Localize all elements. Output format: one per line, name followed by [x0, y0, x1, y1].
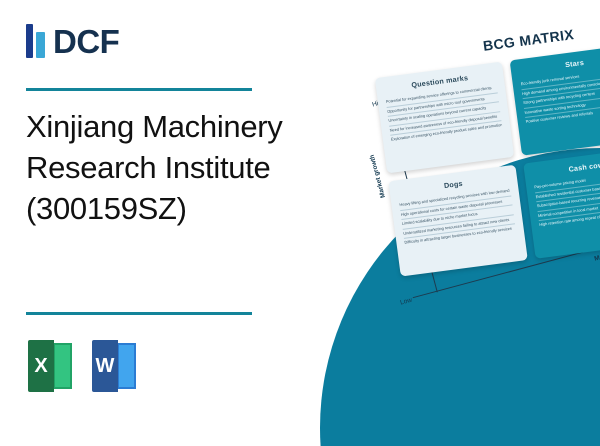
excel-file-icon-glyph: X [28, 340, 54, 392]
page-title: Xinjiang Machinery Research Institute (3… [26, 106, 326, 230]
quadrant-list-question-marks: Potential for expanding service offering… [385, 83, 502, 144]
bcg-matrix-graphic: BCG MATRIX High Low Market growth Market… [300, 0, 600, 446]
file-format-icons: X W [28, 340, 136, 392]
excel-file-icon[interactable]: X [28, 340, 72, 392]
quadrant-stars: Stars Eco-friendly junk removal services… [510, 44, 600, 156]
dcf-bars-logo-icon [26, 24, 45, 58]
page-root: DCF Xinjiang Machinery Research Institut… [0, 0, 600, 446]
quadrant-cash-cows: Cash cows Pay-per-volume pricing model E… [523, 147, 600, 259]
divider-bottom [26, 312, 252, 315]
brand-name: DCF [53, 25, 119, 58]
quadrant-list-dogs: Heavy lifting and specialized recycling … [399, 187, 516, 248]
quadrant-heading-cash-cows: Cash cows [532, 155, 600, 179]
quadrant-list-cash-cows: Pay-per-volume pricing model Established… [534, 169, 600, 230]
matrix-board: High Low Market growth Market share Ques… [355, 26, 600, 293]
word-file-icon[interactable]: W [92, 340, 136, 392]
quadrant-dogs: Dogs Heavy lifting and specialized recyc… [388, 165, 527, 277]
quadrant-question-marks: Question marks Potential for expanding s… [375, 62, 514, 174]
brand-logo: DCF [26, 24, 119, 58]
divider-top [26, 88, 252, 91]
axis-label-market-growth: Market growth [369, 154, 387, 199]
word-file-icon-glyph: W [92, 340, 118, 392]
quadrant-list-stars: Eco-friendly junk removal services High … [520, 66, 600, 127]
